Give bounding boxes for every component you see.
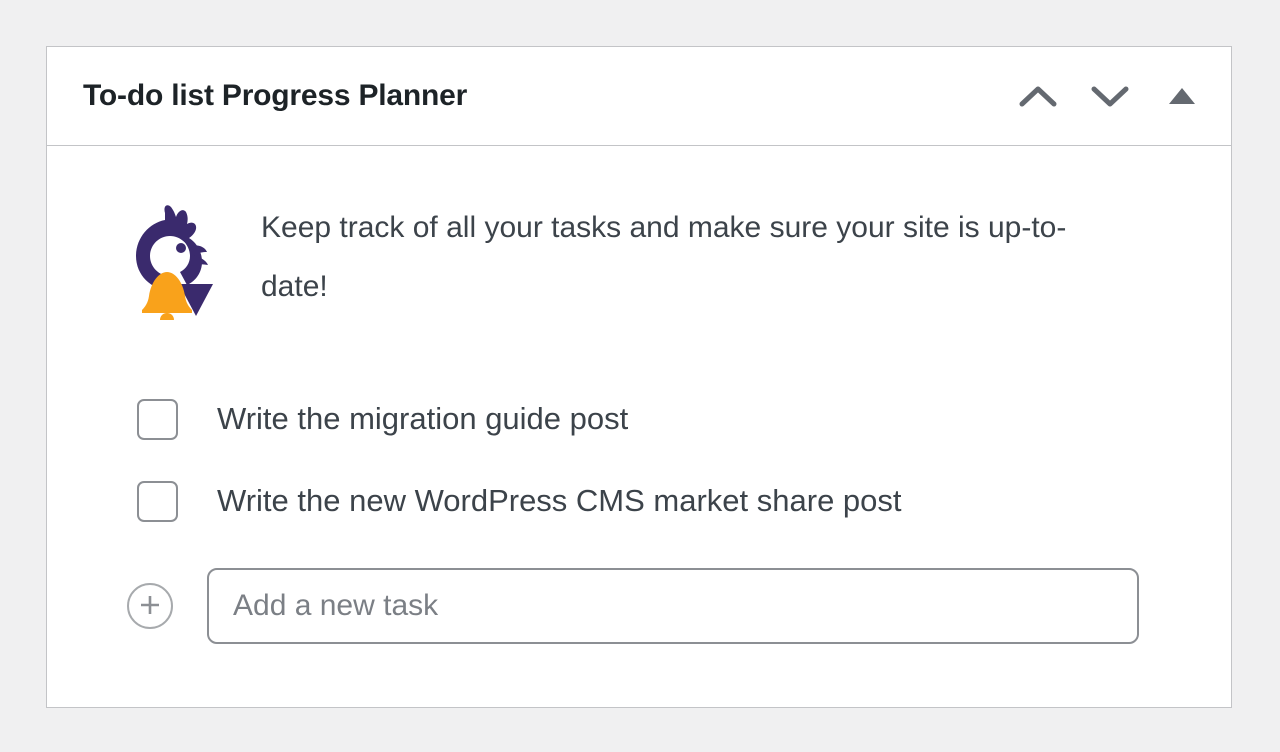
triangle-up-icon — [1167, 85, 1197, 107]
task-row: Write the migration guide post — [133, 378, 1231, 460]
task-row: Write the new WordPress CMS market share… — [133, 460, 1231, 542]
plus-circle-icon — [137, 592, 163, 621]
panel-header: To-do list Progress Planner — [47, 47, 1231, 146]
intro-section: Keep track of all your tasks and make su… — [47, 146, 1231, 324]
panel-header-actions — [1011, 47, 1209, 145]
task-checkbox[interactable] — [137, 399, 178, 440]
task-label[interactable]: Write the migration guide post — [217, 401, 628, 437]
add-task-button[interactable] — [127, 583, 173, 629]
page-title: To-do list Progress Planner — [83, 79, 467, 113]
chevron-down-icon — [1090, 83, 1130, 109]
add-task-input[interactable] — [207, 568, 1139, 644]
toggle-panel-button[interactable] — [1155, 69, 1209, 123]
panel-body: Keep track of all your tasks and make su… — [47, 146, 1231, 706]
intro-description: Keep track of all your tasks and make su… — [261, 198, 1121, 317]
add-task-row — [47, 568, 1231, 644]
task-list: Write the migration guide post Write the… — [47, 378, 1231, 542]
chevron-up-icon — [1018, 83, 1058, 109]
task-label[interactable]: Write the new WordPress CMS market share… — [217, 483, 902, 519]
progress-planner-rooster-logo — [131, 200, 217, 324]
task-checkbox[interactable] — [137, 481, 178, 522]
todo-widget-panel: To-do list Progress Planner — [46, 46, 1232, 708]
move-down-button[interactable] — [1083, 69, 1137, 123]
move-up-button[interactable] — [1011, 69, 1065, 123]
